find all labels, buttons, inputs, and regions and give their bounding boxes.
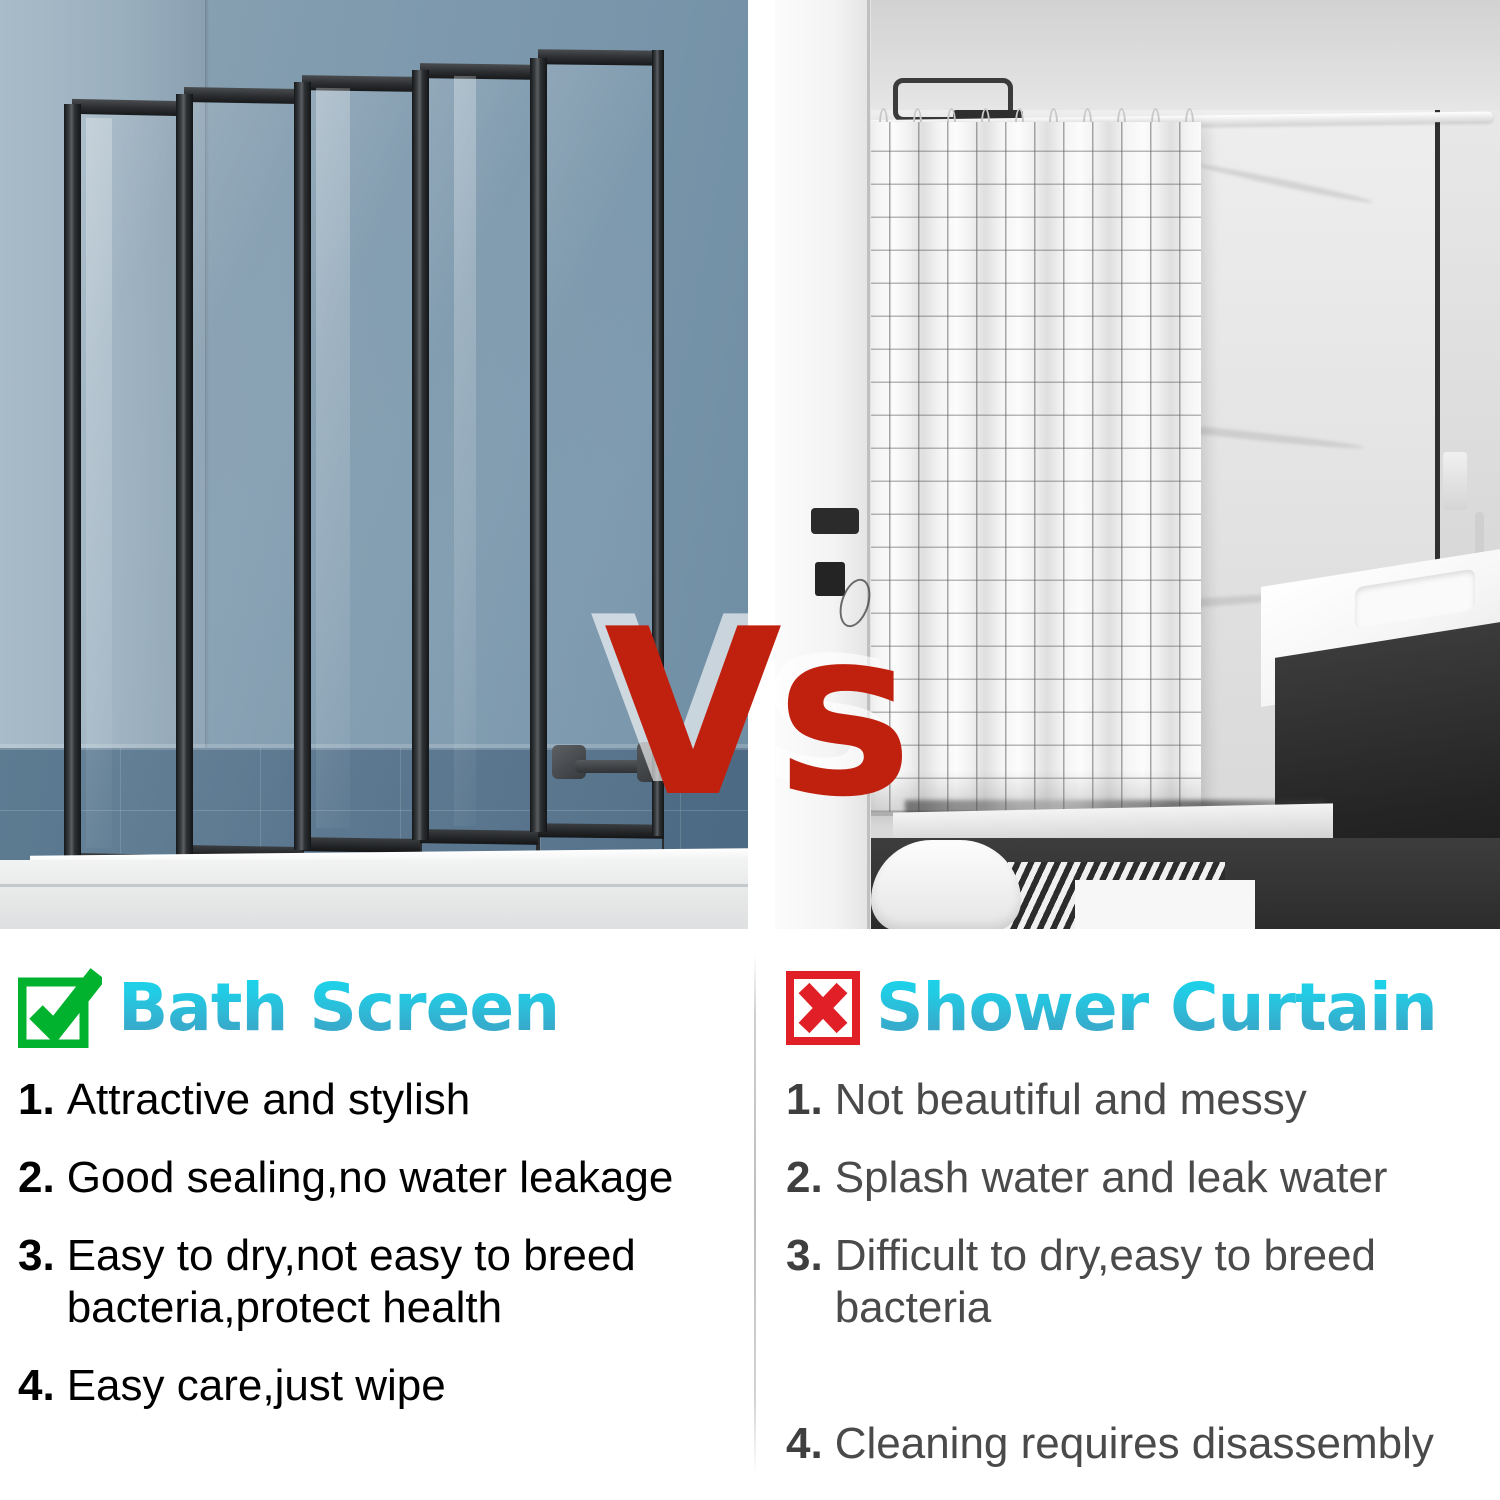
screen-bottom-rail xyxy=(302,837,420,853)
screen-bottom-rail xyxy=(420,829,538,845)
screen-bottom-rail xyxy=(538,823,664,839)
screen-hinge-post xyxy=(64,104,81,872)
list-item: 1. Not beautiful and messy xyxy=(786,1074,1484,1126)
screen-top-rail xyxy=(420,63,538,80)
screen-hinge-post xyxy=(176,94,193,860)
bath-screen-column: Bath Screen 1. Attractive and stylish 2.… xyxy=(0,930,754,1438)
list-item-number: 3. xyxy=(18,1230,55,1282)
screen-panel xyxy=(302,79,420,863)
door-panel xyxy=(775,0,871,929)
list-item-number: 3. xyxy=(786,1230,823,1282)
list-item-number: 2. xyxy=(18,1152,55,1204)
shower-curtain-column: Shower Curtain 1. Not beautiful and mess… xyxy=(762,930,1500,1496)
list-item: 4. Easy care,just wipe xyxy=(18,1360,730,1412)
folding-bath-screen xyxy=(66,48,666,866)
bathtub-shadow-line xyxy=(0,884,748,887)
door-lock xyxy=(815,562,845,596)
bath-screen-points: 1. Attractive and stylish 2. Good sealin… xyxy=(18,1074,730,1412)
faucet-handle-secondary xyxy=(685,752,711,782)
photo-band: Vs xyxy=(0,0,1500,930)
shower-curtain-points: 1. Not beautiful and messy 2. Splash wat… xyxy=(786,1074,1484,1470)
list-item-number: 1. xyxy=(786,1074,823,1126)
comparison-section: Bath Screen 1. Attractive and stylish 2.… xyxy=(0,930,1500,1500)
list-item: 2. Good sealing,no water leakage xyxy=(18,1152,730,1204)
list-item: 2. Splash water and leak water xyxy=(786,1152,1484,1204)
toilet xyxy=(871,840,1021,929)
shower-curtain xyxy=(831,122,1201,812)
list-item-number: 2. xyxy=(786,1152,823,1204)
screen-top-rail xyxy=(72,99,184,116)
bath-screen-heading: Bath Screen xyxy=(18,958,730,1058)
screen-panel xyxy=(72,103,184,867)
list-item-text: Good sealing,no water leakage xyxy=(67,1152,730,1204)
list-item-number: 1. xyxy=(18,1074,55,1126)
list-item: 3. Easy to dry,not easy to breed bacteri… xyxy=(18,1230,730,1334)
door-edge xyxy=(867,0,870,929)
list-item: 3. Difficult to dry,easy to breed bacter… xyxy=(786,1230,1484,1334)
list-item: 4. Cleaning requires disassembly xyxy=(786,1418,1484,1470)
list-item-text: Attractive and stylish xyxy=(67,1074,730,1126)
bathtub xyxy=(0,860,748,929)
column-divider xyxy=(754,954,756,1474)
shower-curtain-photo xyxy=(775,0,1500,929)
list-item-text: Easy care,just wipe xyxy=(67,1360,730,1412)
list-item-text: Splash water and leak water xyxy=(835,1152,1484,1204)
list-item-number: 4. xyxy=(18,1360,55,1412)
list-item: 1. Attractive and stylish xyxy=(18,1074,730,1126)
screen-panel xyxy=(538,53,664,859)
bath-screen-title: Bath Screen xyxy=(118,972,559,1044)
door-handle xyxy=(811,508,859,534)
bath-screen-photo xyxy=(0,0,748,929)
list-item-text: Easy to dry,not easy to breed bacteria,p… xyxy=(67,1230,730,1334)
screen-panel xyxy=(420,67,538,861)
screen-hinge-post xyxy=(412,70,429,840)
screen-end-post xyxy=(652,50,664,836)
shower-curtain-title: Shower Curtain xyxy=(876,972,1437,1044)
screen-panel xyxy=(184,91,302,865)
shower-curtain-heading: Shower Curtain xyxy=(786,958,1484,1058)
red-cross-box-icon xyxy=(786,971,860,1045)
screen-top-rail xyxy=(538,49,664,66)
screen-top-rail xyxy=(184,87,302,104)
list-item-text: Difficult to dry,easy to breed bacteria xyxy=(835,1230,1484,1334)
soap-dispenser xyxy=(1443,452,1467,510)
green-check-box-icon xyxy=(18,968,102,1048)
list-item-number: 4. xyxy=(786,1418,823,1470)
screen-hinge-post xyxy=(530,58,547,832)
list-item-text: Cleaning requires disassembly xyxy=(835,1418,1484,1470)
list-item-text: Not beautiful and messy xyxy=(835,1074,1484,1126)
white-bath-mat xyxy=(1075,880,1255,929)
screen-hinge-post xyxy=(294,82,311,850)
screen-top-rail xyxy=(302,75,420,92)
